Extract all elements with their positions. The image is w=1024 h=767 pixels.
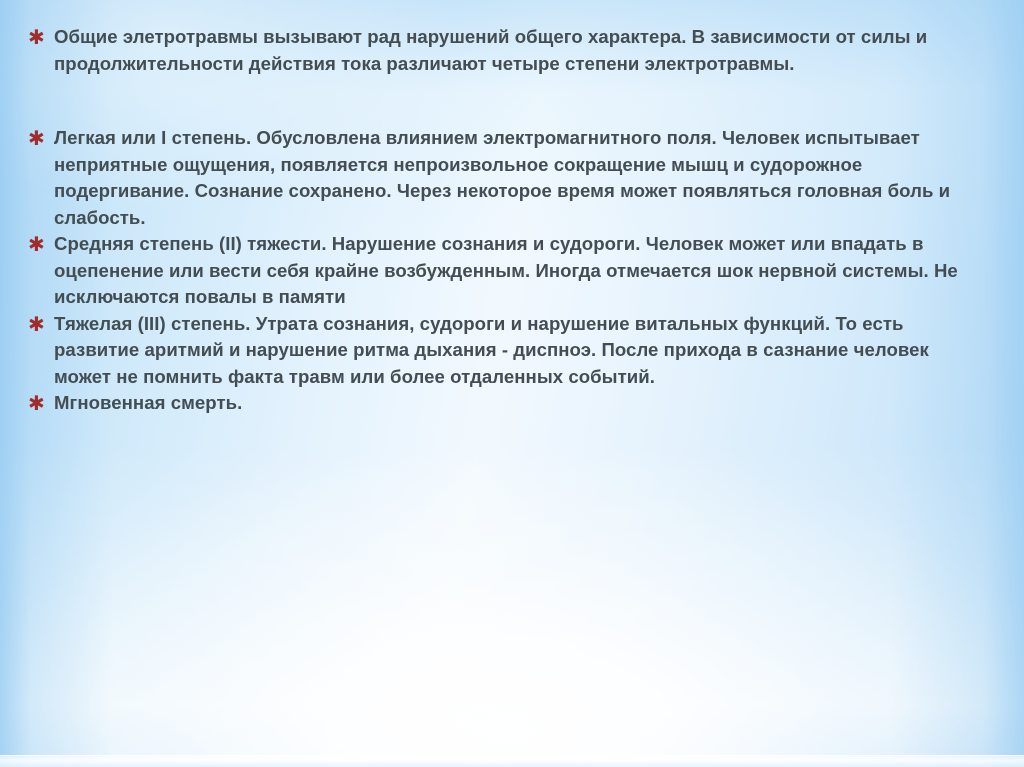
background-bottom-hairline (0, 755, 1024, 756)
bullet-item-general: ✱ Общие элетротравмы вызывают рад наруше… (28, 24, 972, 77)
bullet-item-instant-death: ✱ Мгновенная смерть. (28, 390, 972, 417)
bullet-text-degree-ii: Средняя степень (II) тяжести. Нарушение … (54, 231, 972, 311)
asterisk-bullet-icon: ✱ (28, 24, 48, 50)
asterisk-bullet-icon: ✱ (28, 311, 48, 337)
asterisk-bullet-icon: ✱ (28, 125, 48, 151)
bullet-item-degree-i: ✱ Легкая или I степень. Обусловлена влия… (28, 125, 972, 231)
bullet-text-instant-death: Мгновенная смерть. (54, 390, 972, 417)
bullet-item-degree-ii: ✱ Средняя степень (II) тяжести. Нарушени… (28, 231, 972, 311)
bullet-text-degree-i: Легкая или I степень. Обусловлена влияни… (54, 125, 972, 231)
bullet-text-general: Общие элетротравмы вызывают рад нарушени… (54, 24, 972, 77)
bullet-item-degree-iii: ✱ Тяжелая (III) степень. Утрата сознания… (28, 311, 972, 391)
asterisk-bullet-icon: ✱ (28, 390, 48, 416)
background-bottom-strip (0, 755, 1024, 767)
slide-canvas: ✱ Общие элетротравмы вызывают рад наруше… (0, 0, 1024, 767)
slide-body-text: ✱ Общие элетротравмы вызывают рад наруше… (28, 24, 972, 417)
asterisk-bullet-icon: ✱ (28, 231, 48, 257)
bullet-text-degree-iii: Тяжелая (III) степень. Утрата сознания, … (54, 311, 972, 391)
